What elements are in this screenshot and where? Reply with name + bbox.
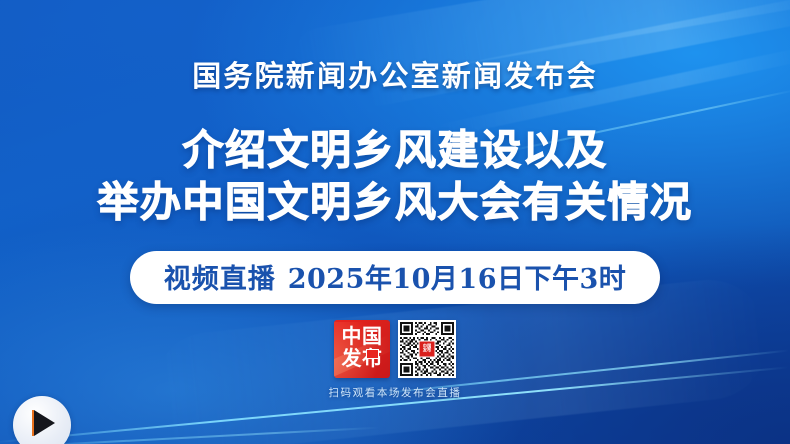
china-release-logo: 中国 发布: [334, 320, 390, 378]
organizer-title: 国务院新闻办公室新闻发布会: [192, 62, 598, 91]
banner-content: 国务院新闻办公室新闻发布会 介绍文明乡风建设以及 举办中国文明乡风大会有关情况 …: [0, 0, 790, 444]
subject-title: 介绍文明乡风建设以及 举办中国文明乡风大会有关情况: [98, 124, 693, 229]
qr-code[interactable]: 中国 发布: [398, 320, 456, 378]
broadcast-schedule-pill: 视频直播 2025年10月16日下午3时: [130, 251, 661, 304]
play-icon: [34, 410, 55, 436]
broadcast-datetime: 2025年10月16日下午3时: [288, 257, 627, 296]
logo-and-qr-group: 中国 发布: [334, 320, 456, 378]
flag-icon: [366, 349, 379, 359]
scan-instruction-caption: 扫码观看本场发布会直播: [328, 385, 461, 400]
broadcast-label: 视频直播: [164, 257, 276, 296]
subject-title-line-1: 介绍文明乡风建设以及: [98, 124, 693, 176]
subject-title-line-2: 举办中国文明乡风大会有关情况: [98, 176, 693, 228]
press-conference-banner: 国务院新闻办公室新闻发布会 介绍文明乡风建设以及 举办中国文明乡风大会有关情况 …: [0, 0, 790, 444]
qr-center-line-2: 发布: [423, 349, 432, 353]
qr-center-logo: 中国 发布: [419, 340, 436, 357]
logo-text-line-1: 中国: [342, 327, 383, 349]
